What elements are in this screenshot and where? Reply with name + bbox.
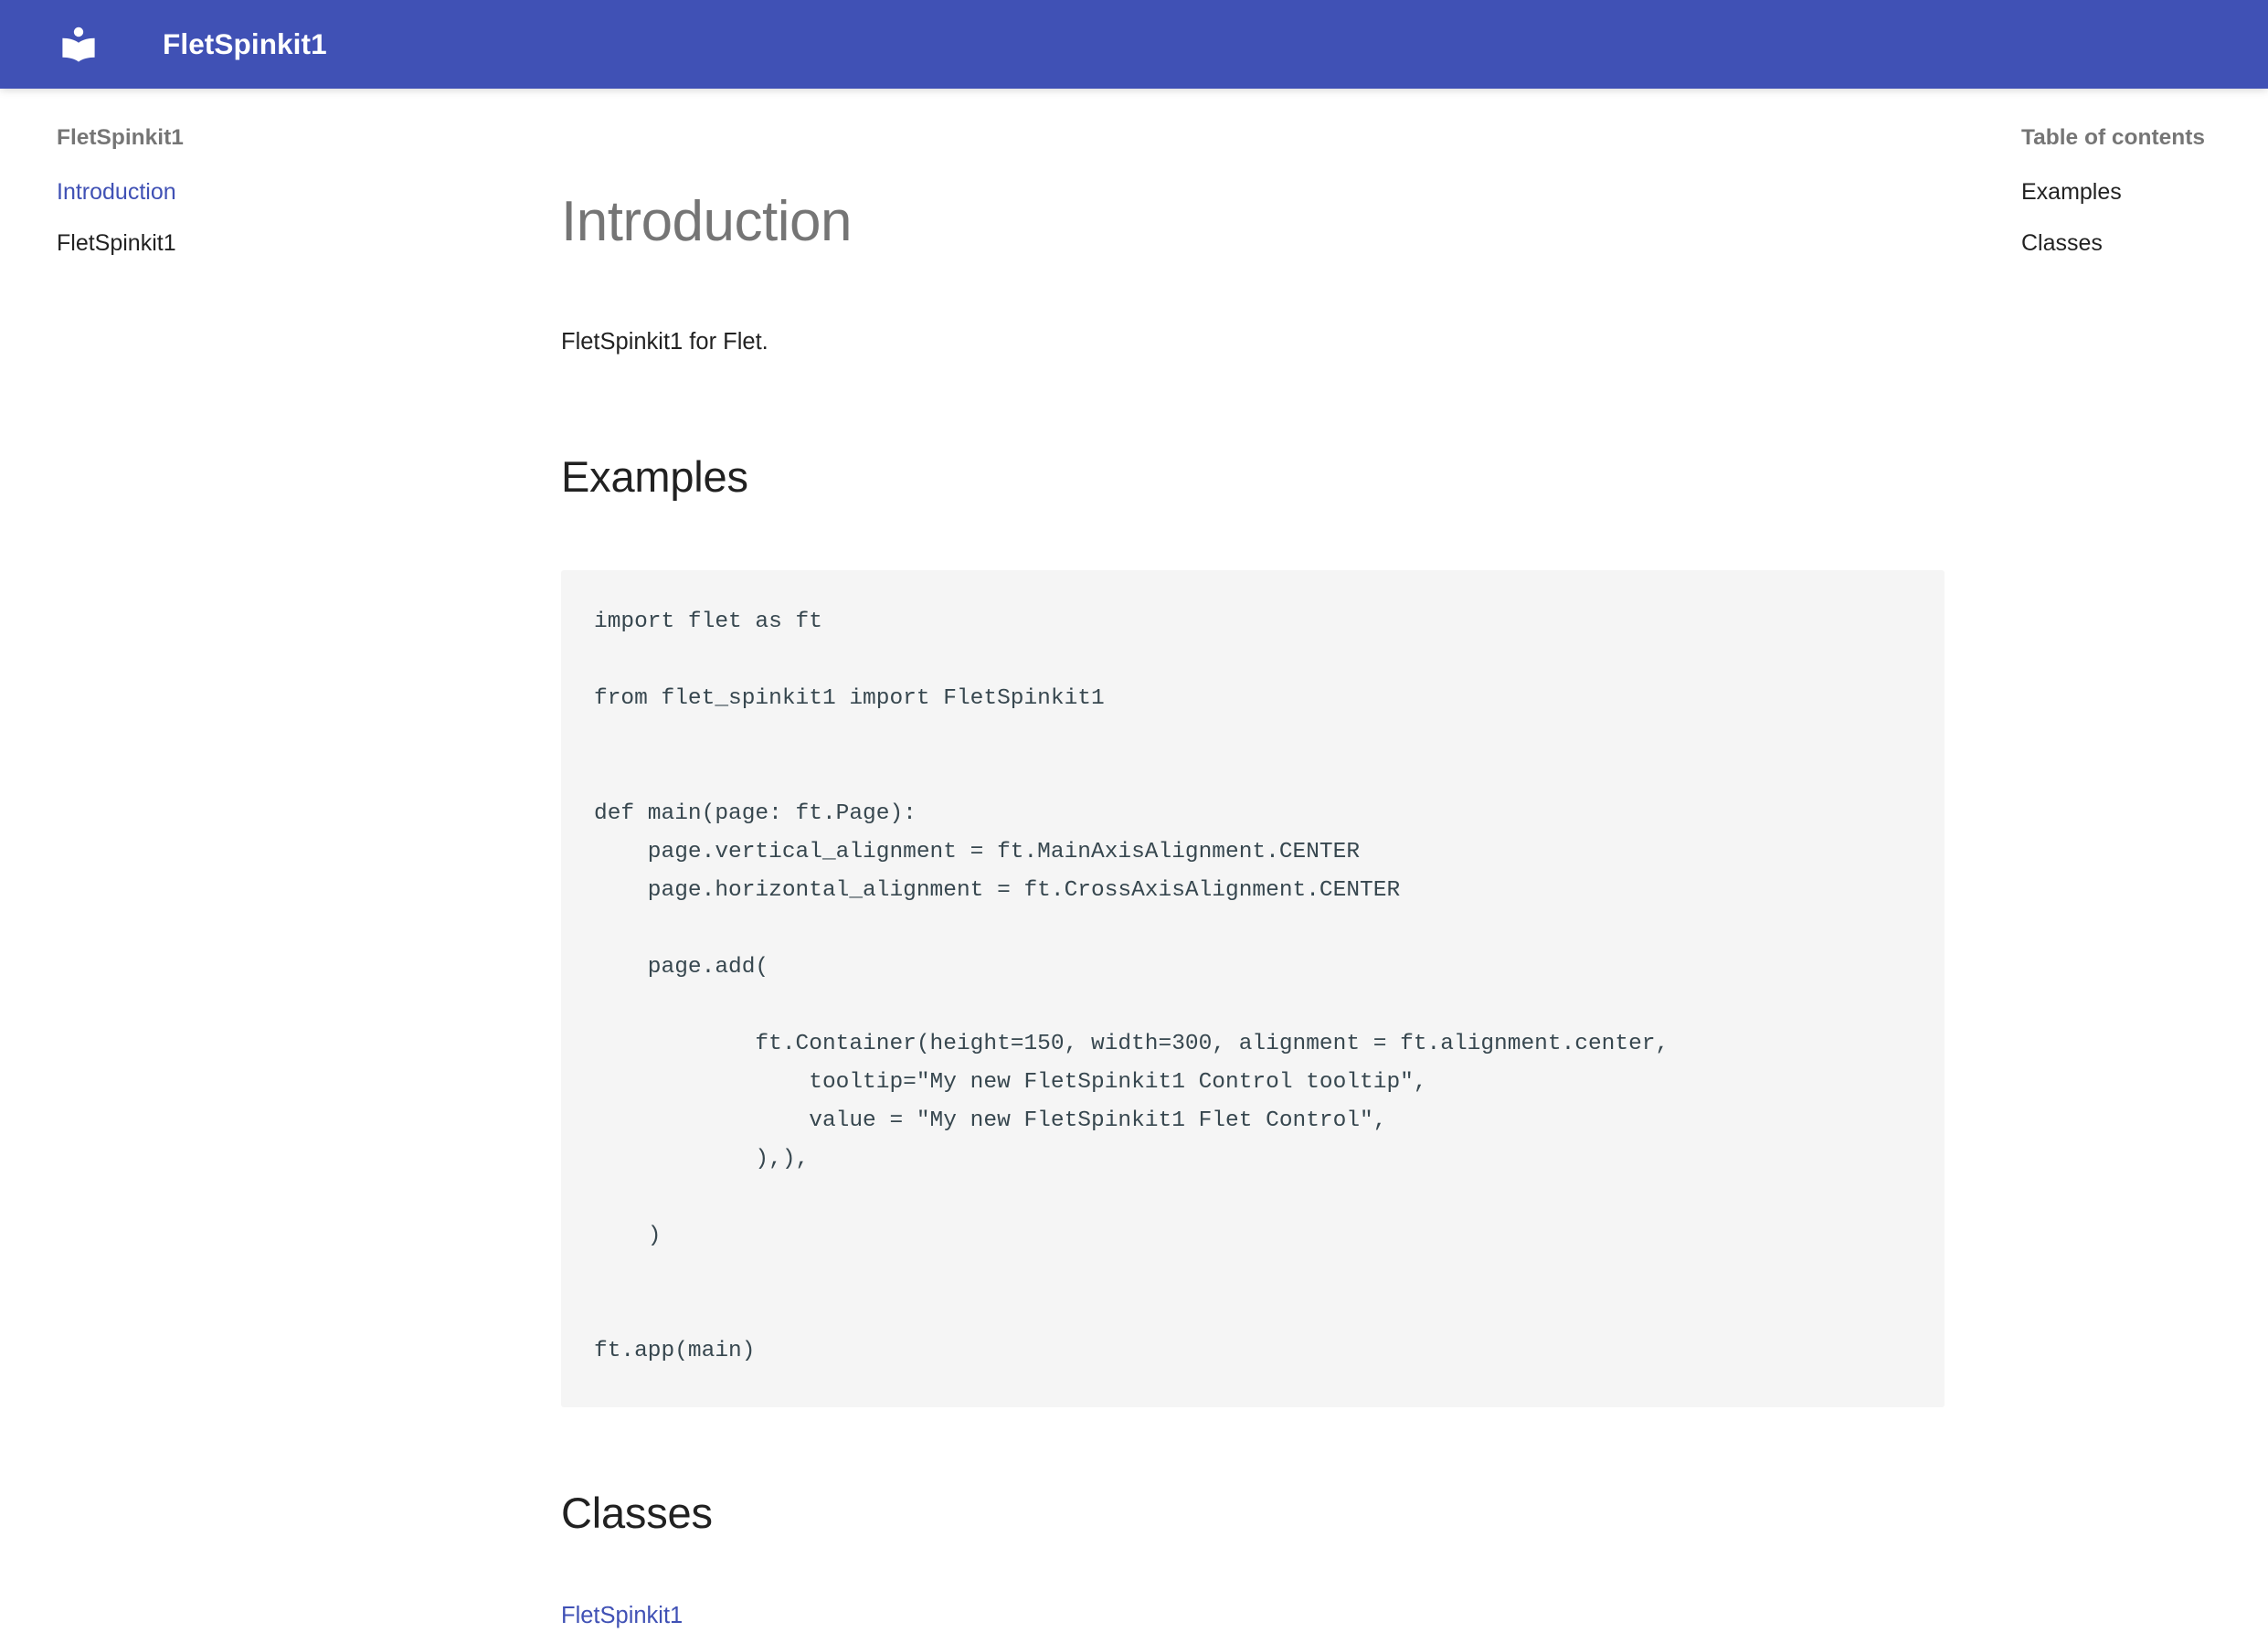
code-block-content: import flet as ft from flet_spinkit1 imp… — [561, 570, 1945, 1407]
toc-list: Examples Classes — [2021, 167, 2268, 269]
section-heading-examples: Examples — [561, 360, 2023, 504]
page-body: FletSpinkit1 Introduction FletSpinkit1 I… — [0, 89, 2268, 1643]
page-title: Introduction — [561, 89, 2023, 260]
toc-title: Table of contents — [2021, 122, 2268, 154]
toc-item-examples[interactable]: Examples — [2021, 167, 2268, 218]
table-of-contents: Table of contents Examples Classes — [2021, 89, 2268, 269]
section-heading-classes: Classes — [561, 1407, 2023, 1541]
class-link-fletspinkit1[interactable]: FletSpinkit1 — [561, 1597, 683, 1635]
mkdocs-book-logo-icon[interactable] — [57, 23, 101, 67]
toc-item-classes[interactable]: Classes — [2021, 218, 2268, 270]
sidebar-item-fletspinkit1[interactable]: FletSpinkit1 — [57, 218, 514, 270]
intro-paragraph: FletSpinkit1 for Flet. — [561, 260, 2023, 361]
header-title: FletSpinkit1 — [163, 27, 327, 61]
main-content: Introduction FletSpinkit1 for Flet. Exam… — [561, 89, 2023, 1634]
sidebar-nav-list: Introduction FletSpinkit1 — [57, 167, 514, 269]
code-block[interactable]: import flet as ft from flet_spinkit1 imp… — [561, 570, 1945, 1407]
app-header: FletSpinkit1 — [0, 0, 2268, 89]
header-inner: FletSpinkit1 — [0, 23, 327, 67]
sidebar-title: FletSpinkit1 — [57, 122, 514, 154]
primary-sidebar: FletSpinkit1 Introduction FletSpinkit1 — [57, 89, 514, 269]
sidebar-item-introduction[interactable]: Introduction — [57, 167, 514, 218]
